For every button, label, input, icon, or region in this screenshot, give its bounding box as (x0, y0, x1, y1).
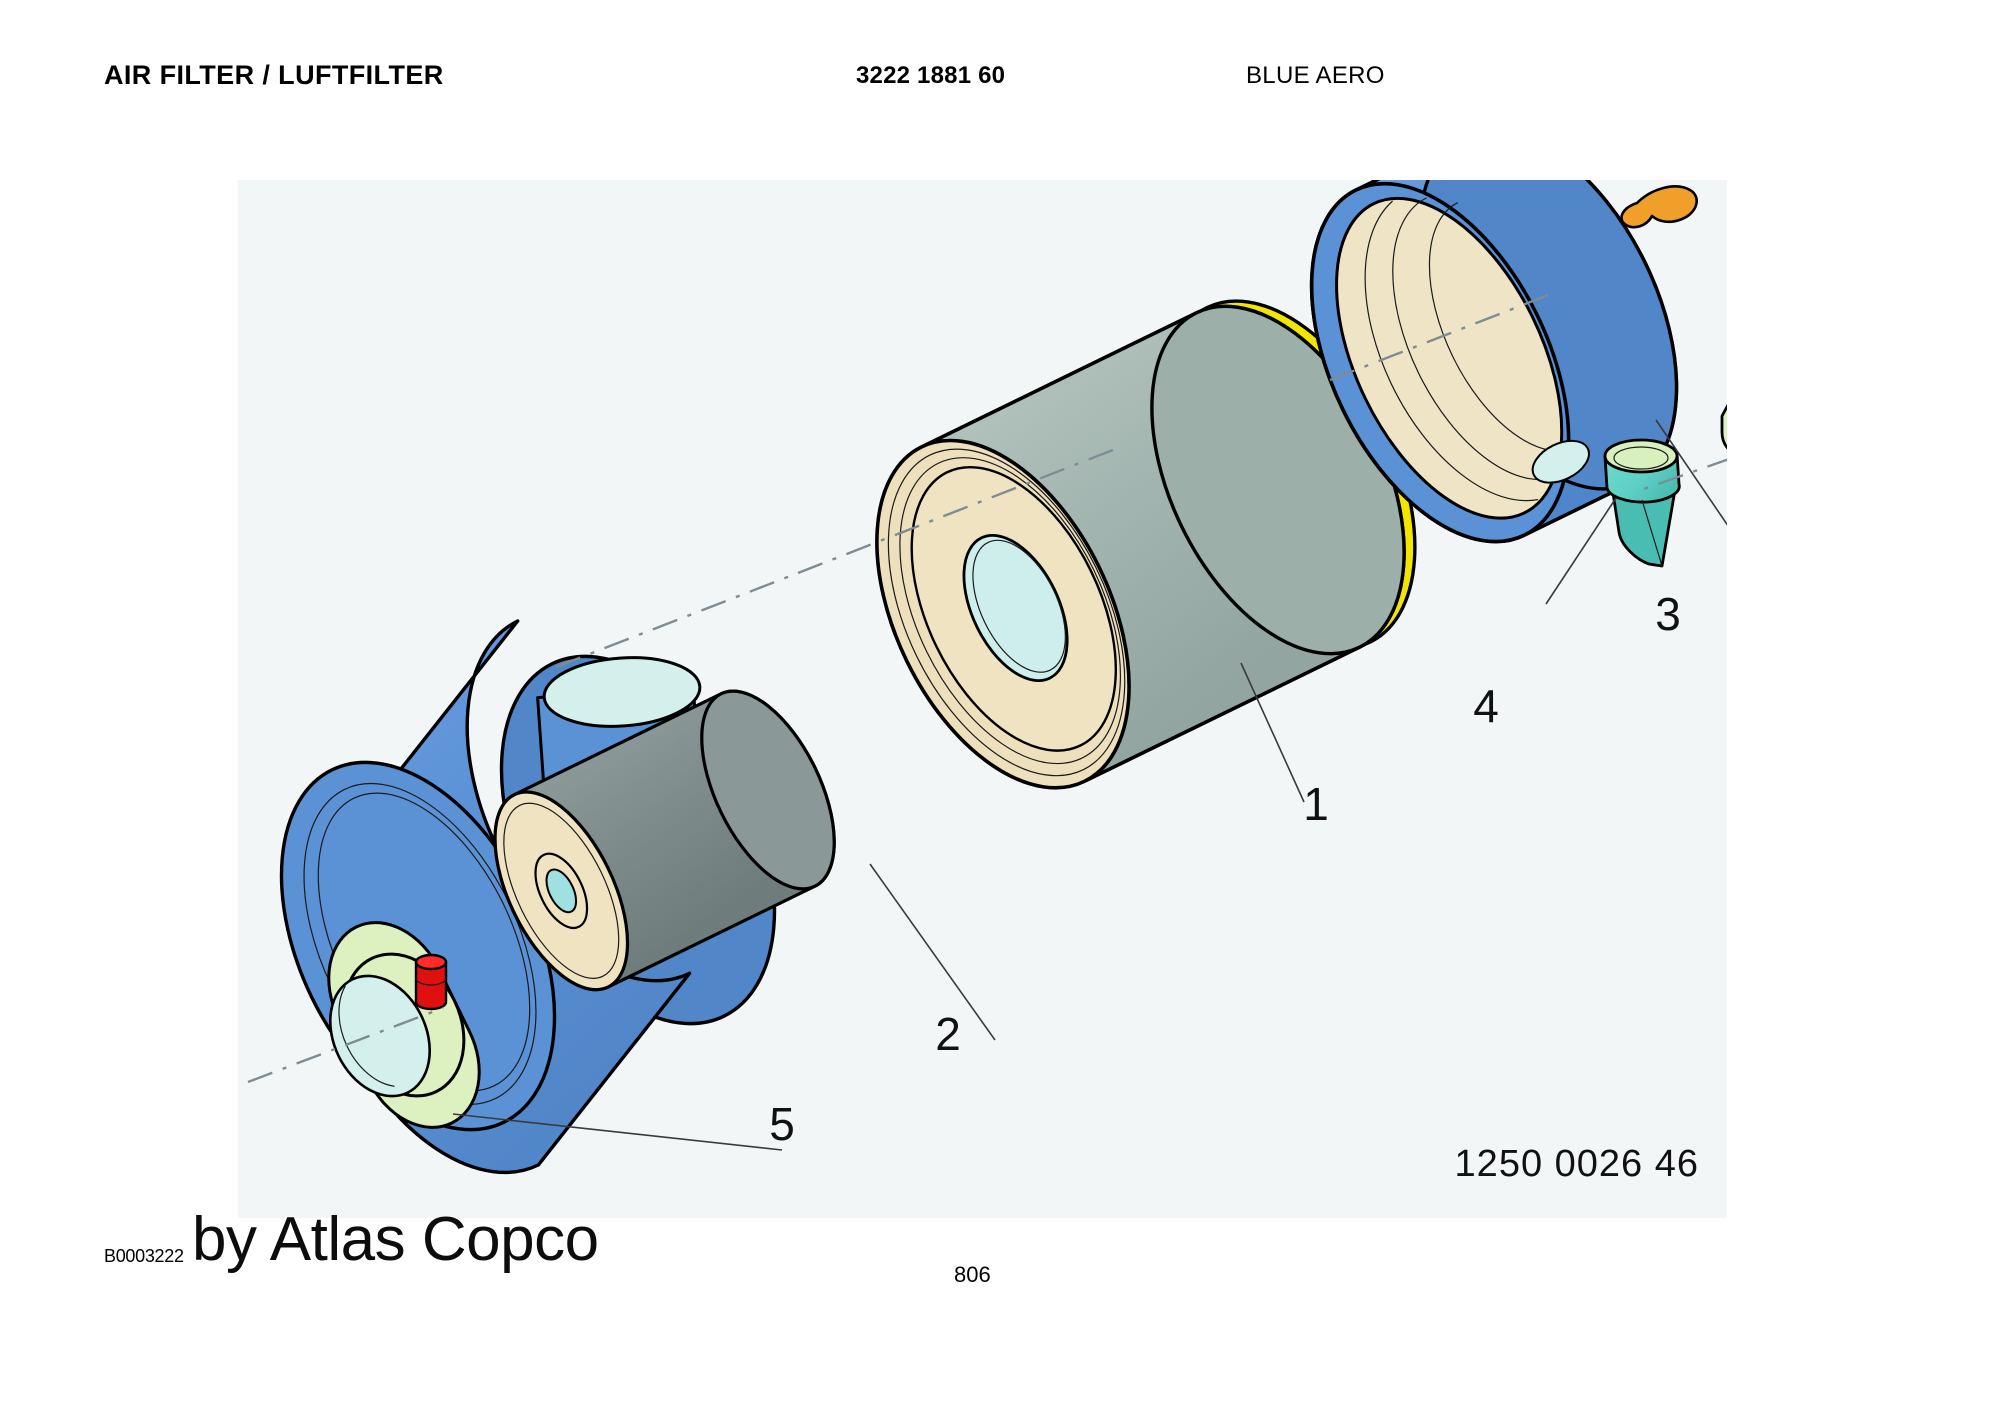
callout-number-3: 3 (1655, 588, 1681, 640)
cover-clip-top[interactable] (1622, 186, 1697, 227)
page-title: AIR FILTER / LUFTFILTER (104, 60, 444, 91)
page-number: 806 (954, 1262, 991, 1288)
callout-number-2: 2 (935, 1008, 961, 1060)
drawing-code: 1250 0026 46 (1455, 1143, 1699, 1186)
cover-dust-outlet-boss (1722, 403, 1727, 454)
exploded-view-illustration: 1 2 3 4 5 (238, 180, 1727, 1218)
leader-line-2 (870, 864, 995, 1040)
part-number: 3222 1881 60 (856, 62, 1005, 90)
brand-label: BLUE AERO (1246, 62, 1385, 90)
parts-diagram-page: AIR FILTER / LUFTFILTER 3222 1881 60 BLU… (0, 0, 2000, 1414)
company-brand: by Atlas Copco (192, 1204, 599, 1275)
service-indicator-plug[interactable] (416, 955, 446, 1009)
part-4-dust-ejector-valve[interactable] (1605, 440, 1727, 566)
document-code: B0003222 (104, 1246, 184, 1267)
callout-number-5: 5 (769, 1098, 795, 1150)
callout-number-1: 1 (1303, 778, 1329, 830)
page-header: AIR FILTER / LUFTFILTER 3222 1881 60 BLU… (0, 0, 2000, 110)
drawing-panel: 1 2 3 4 5 1250 0026 46 (238, 180, 1727, 1218)
safety-element-center-axis (556, 573, 798, 667)
callout-number-4: 4 (1473, 680, 1499, 732)
